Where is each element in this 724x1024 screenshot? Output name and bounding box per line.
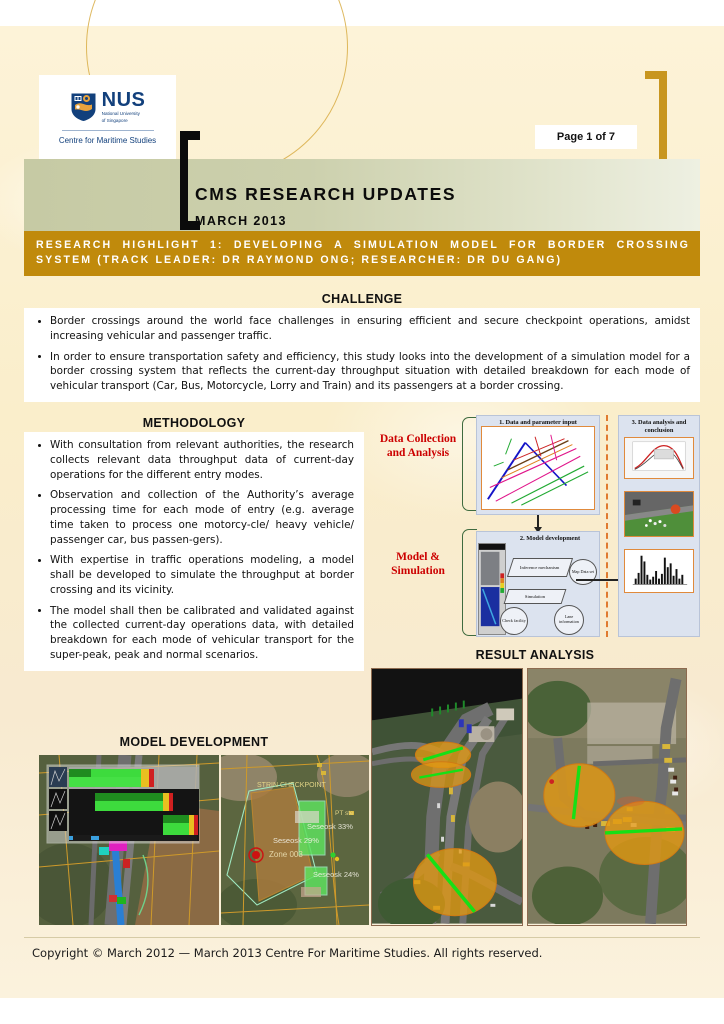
diagram-node-lane-information-label: Lane information [555,615,583,625]
nus-logo: NUS National University of Singapore Cen… [39,75,176,160]
model-dev-image-zone-map: STRIN CHECKPOINT Zone 003 Seseosk 33% Se… [221,755,369,925]
logo-divider [62,130,154,131]
diagram-node-lane-information: Lane information [554,605,584,635]
logo-unit-name: Centre for Maritime Studies [59,136,156,145]
svg-text:Seseosk 29%: Seseosk 29% [273,836,319,845]
list-item: The model shall then be calibrated and v… [50,604,354,663]
list-item: With expertise in traffic operations mod… [50,553,354,597]
nus-subtitle-line1: National University [102,111,146,117]
diagram-panel2-title: 2. Model development [477,532,599,543]
result-image-checkpoint [527,668,687,926]
nus-wordmark: NUS [102,90,146,110]
diagram-label-data-collection: Data Collection and Analysis [376,433,460,461]
methodology-diagram: Data Collection and Analysis Model & Sim… [376,411,700,640]
methodology-content: With consultation from relevant authorit… [24,432,364,671]
challenge-heading: CHALLENGE [24,292,700,306]
footer-copyright: Copyright © March 2012 — March 2013 Cent… [32,946,542,960]
svg-text:Seseosk 33%: Seseosk 33% [307,822,353,831]
result-analysis-heading: RESULT ANALYSIS [370,648,700,662]
svg-text:PT ste: PT ste [335,810,354,817]
gold-bracket-decoration [645,71,667,167]
nus-subtitle-line2: of Singapore [102,118,146,124]
diagram-node-map-data-label: Map Data set [572,570,594,575]
list-item: With consultation from relevant authorit… [50,438,354,482]
diagram-brace-bottom [462,529,477,636]
page-subtitle: MARCH 2013 [195,214,287,228]
methodology-heading: METHODOLOGY [24,416,364,430]
page-indicator: Page 1 of 7 [535,125,637,149]
list-item: Border crossings around the world face c… [50,314,690,344]
diagram-thumb-bar-chart [624,549,694,593]
diagram-label-model-simulation: Model & Simulation [376,551,460,579]
list-item: Observation and collection of the Author… [50,488,354,547]
svg-text:Zone 003: Zone 003 [269,850,303,859]
svg-text:Seseosk 24%: Seseosk 24% [313,870,359,879]
diagram-arrow-down [537,515,539,527]
diagram-panel3-title: 3. Data analysis and conclusion [619,416,699,435]
diagram-thumb-line-chart [624,437,694,479]
footer-divider [24,937,700,938]
result-image-interchange [371,668,523,926]
diagram-network-map-thumbnail [481,426,595,510]
svg-text:STRIN CHECKPOINT: STRIN CHECKPOINT [257,782,327,789]
diagram-node-inference-label: Inference mechanism [520,565,559,571]
list-item: In order to ensure transportation safety… [50,350,690,394]
diagram-node-check-facility-label: Check facility [502,619,526,624]
diagram-node-simulation-label: Simulation [525,594,545,600]
research-highlight-banner: RESEARCH HIGHLIGHT 1: DEVELOPING A SIMUL… [24,231,700,276]
diagram-node-map-data: Map Data set [569,559,597,585]
page-title: CMS RESEARCH UPDATES [195,184,456,205]
diagram-node-inference: Inference mechanism [507,558,573,577]
diagram-divider-dashed [606,415,608,637]
model-development-images: STRIN CHECKPOINT Zone 003 Seseosk 33% Se… [39,755,369,925]
diagram-thumb-3d-scene [624,491,694,537]
nus-shield-icon [70,92,97,122]
diagram-brace-top [462,417,477,511]
result-analysis-images [371,668,700,926]
model-dev-image-simulation-ui [39,755,219,925]
diagram-node-check-facility: Check facility [500,607,528,635]
poster-page: NUS National University of Singapore Cen… [0,0,724,1024]
diagram-node-simulation: Simulation [504,589,567,604]
model-development-heading: MODEL DEVELOPMENT [24,735,364,749]
diagram-arrow-right [576,579,618,581]
challenge-content: Border crossings around the world face c… [24,308,700,402]
